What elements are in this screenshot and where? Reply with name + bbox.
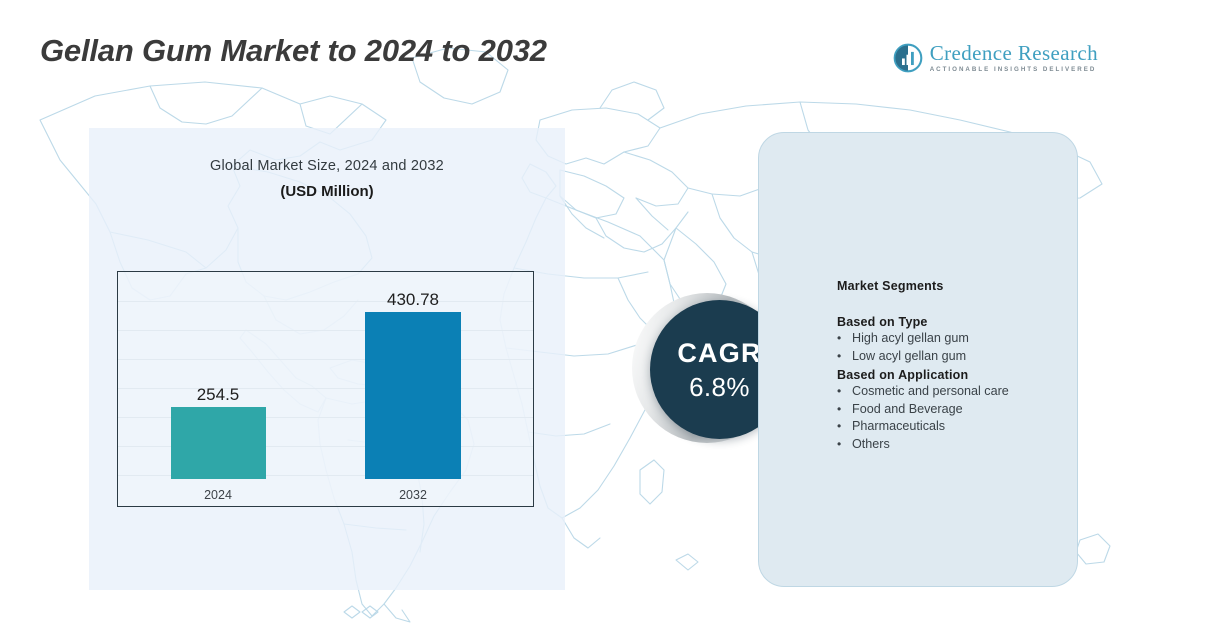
bar-chart: 254.5 430.78 2024 2032 xyxy=(117,271,534,507)
list-item: • Food and Beverage xyxy=(837,401,1087,418)
segment-item-label: Food and Beverage xyxy=(852,401,963,418)
bullet-icon: • xyxy=(837,401,852,418)
segment-item-label: Others xyxy=(852,436,890,453)
chart-subheading: (USD Million) xyxy=(89,183,565,200)
logo-tagline: Actionable Insights Delivered xyxy=(930,67,1098,73)
bullet-icon: • xyxy=(837,418,852,435)
list-item: • Others xyxy=(837,436,1087,453)
segment-item-label: Pharmaceuticals xyxy=(852,418,945,435)
bar-value-2032: 430.78 xyxy=(352,290,474,310)
list-item: • High acyl gellan gum xyxy=(837,330,1087,347)
segment-item-label: High acyl gellan gum xyxy=(852,330,969,347)
bullet-icon: • xyxy=(837,436,852,453)
list-item: • Pharmaceuticals xyxy=(837,418,1087,435)
bullet-icon: • xyxy=(837,348,852,365)
list-item: • Low acyl gellan gum xyxy=(837,348,1087,365)
category-label-2032: 2032 xyxy=(352,488,474,502)
bullet-icon: • xyxy=(837,330,852,347)
chart-gridline xyxy=(118,330,533,331)
cagr-label: CAGR xyxy=(677,340,761,367)
bullet-icon: • xyxy=(837,383,852,400)
segment-group-title-type: Based on Type xyxy=(837,315,1087,329)
chart-gridline xyxy=(118,359,533,360)
segments-title: Market Segments xyxy=(837,279,1087,293)
bar-value-2024: 254.5 xyxy=(158,385,278,405)
segment-item-label: Cosmetic and personal care xyxy=(852,383,1009,400)
bar-2032 xyxy=(365,312,461,479)
bar-chart-circle-logo-icon xyxy=(893,43,923,73)
list-item: • Cosmetic and personal care xyxy=(837,383,1087,400)
cagr-value: 6.8% xyxy=(689,374,750,400)
market-segments-list: Market Segments Based on Type • High acy… xyxy=(837,279,1087,452)
company-logo: Credence Research Actionable Insights De… xyxy=(893,43,1098,73)
bar-2024 xyxy=(171,407,266,479)
infographic-page: Gellan Gum Market to 2024 to 2032 Creden… xyxy=(0,0,1206,633)
segment-group-title-application: Based on Application xyxy=(837,368,1087,382)
chart-heading: Global Market Size, 2024 and 2032 xyxy=(89,158,565,174)
category-label-2024: 2024 xyxy=(158,488,278,502)
segment-item-label: Low acyl gellan gum xyxy=(852,348,966,365)
logo-company-name: Credence Research xyxy=(930,43,1098,64)
page-title: Gellan Gum Market to 2024 to 2032 xyxy=(40,33,547,69)
